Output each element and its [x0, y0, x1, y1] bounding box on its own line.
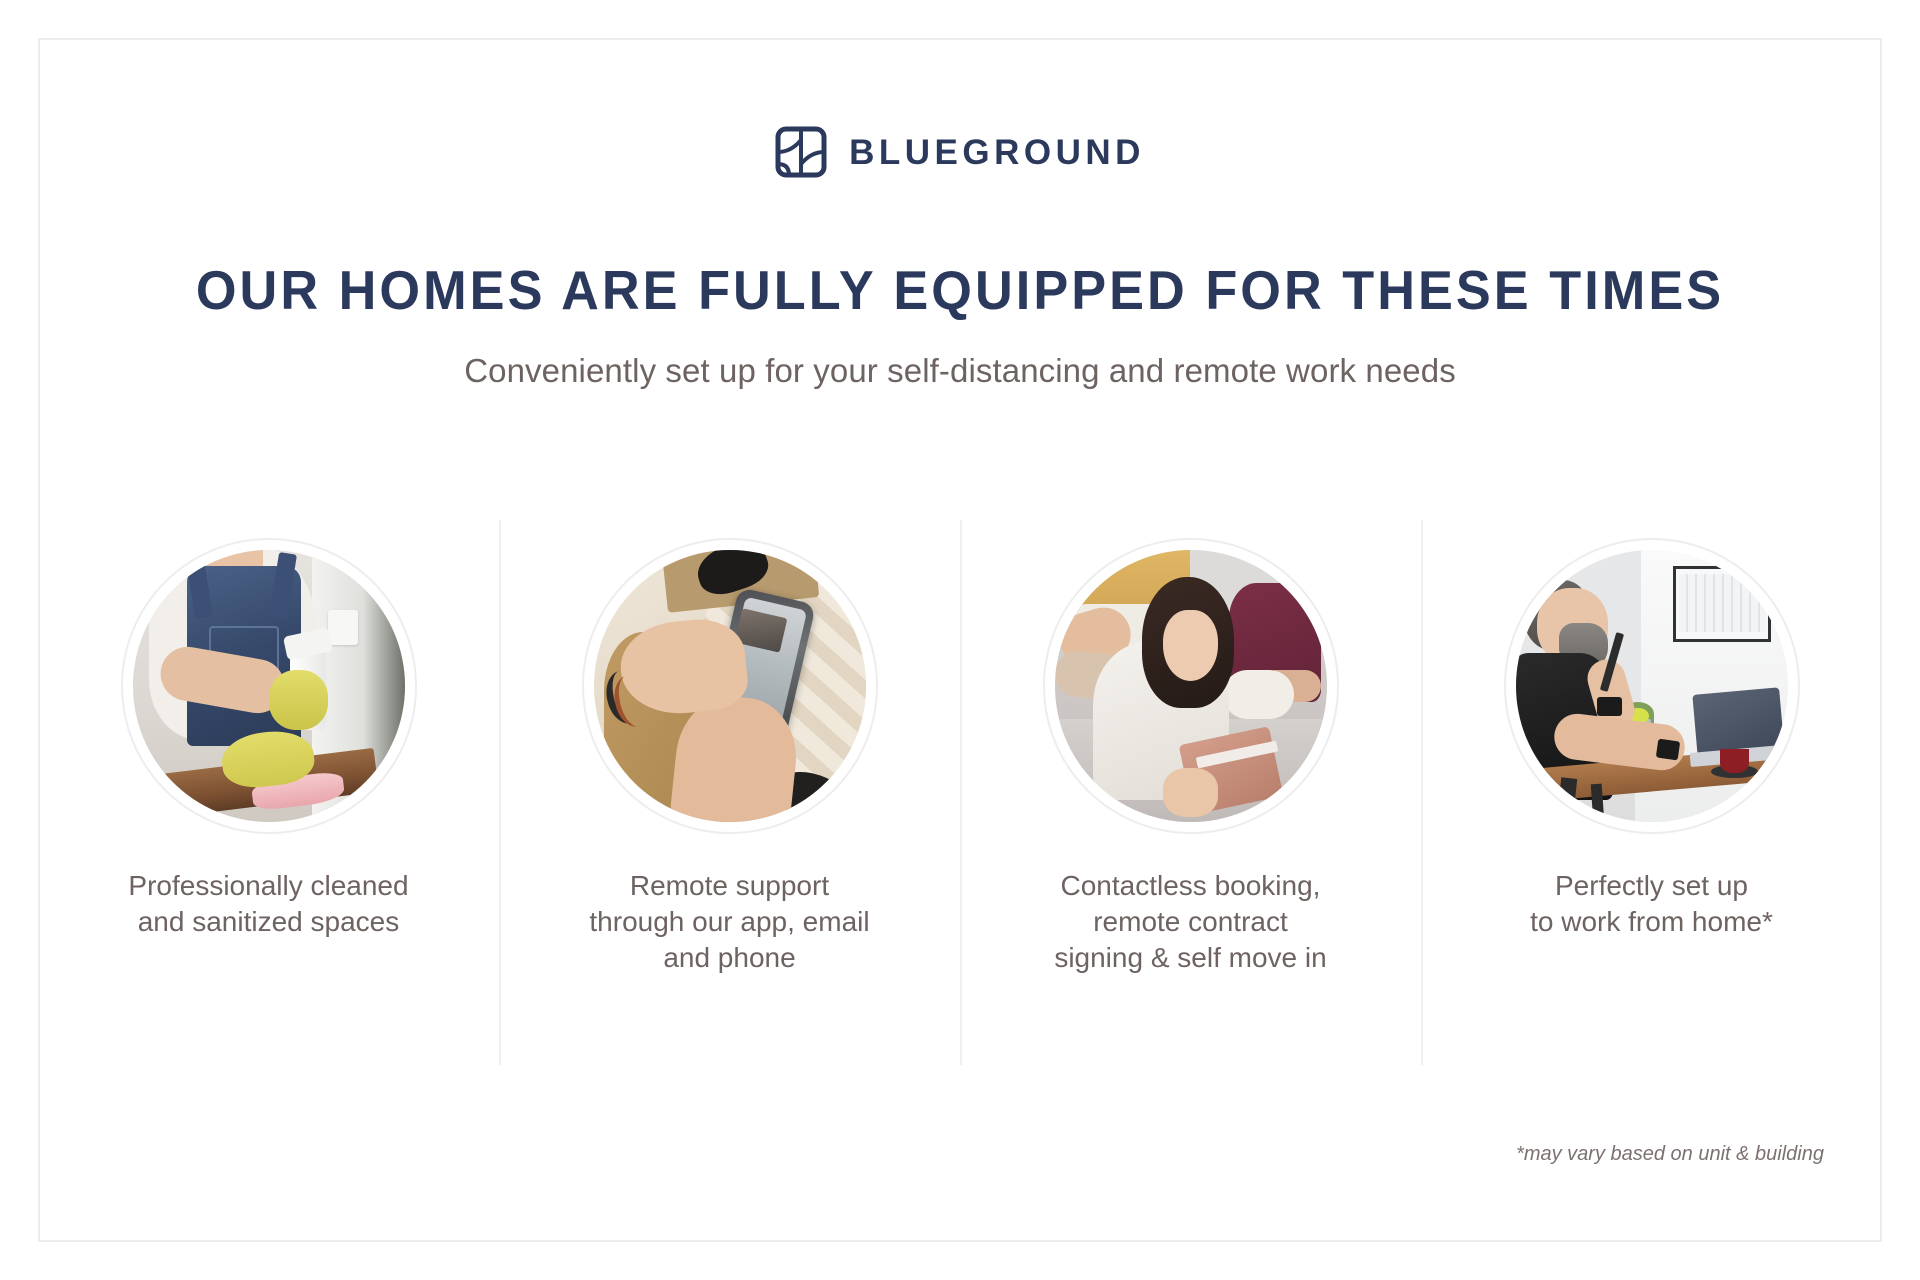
- caption-line-3: signing & self move in: [1054, 940, 1326, 976]
- brand-name: BLUEGROUND: [849, 135, 1145, 170]
- page-title: OUR HOMES ARE FULLY EQUIPPED FOR THESE T…: [48, 258, 1872, 322]
- feature-card-work-from-home: Perfectly set up to work from home*: [1421, 520, 1882, 1065]
- caption-line-3: and phone: [589, 940, 869, 976]
- feature-card-caption: Remote support through our app, email an…: [589, 868, 869, 975]
- photo-ring: [582, 538, 878, 834]
- feature-card-cleaning: Professionally cleaned and sanitized spa…: [38, 520, 499, 1065]
- caption-line-2: to work from home*: [1530, 904, 1773, 940]
- caption-line-1: Remote support: [589, 868, 869, 904]
- photo-ring: [1504, 538, 1800, 834]
- caption-line-1: Contactless booking,: [1054, 868, 1326, 904]
- feature-card-remote-support: Remote support through our app, email an…: [499, 520, 960, 1065]
- cleaner-photo: [133, 550, 405, 822]
- caption-line-1: Perfectly set up: [1530, 868, 1773, 904]
- page-subtitle: Conveniently set up for your self-distan…: [0, 352, 1920, 390]
- blueground-square-mark-icon: [775, 126, 827, 178]
- caption-line-2: remote contract: [1054, 904, 1326, 940]
- feature-card-caption: Perfectly set up to work from home*: [1530, 868, 1773, 940]
- photo-ring: [1043, 538, 1339, 834]
- tablet-on-bed-photo: [1055, 550, 1327, 822]
- feature-card-caption: Professionally cleaned and sanitized spa…: [128, 868, 408, 940]
- work-from-home-photo: [1516, 550, 1788, 822]
- phone-app-photo: [594, 550, 866, 822]
- poster-page: BLUEGROUND OUR HOMES ARE FULLY EQUIPPED …: [0, 0, 1920, 1280]
- feature-card-caption: Contactless booking, remote contract sig…: [1054, 868, 1326, 975]
- footnote-disclaimer: *may vary based on unit & building: [1516, 1143, 1824, 1166]
- feature-card-contactless-booking: Contactless booking, remote contract sig…: [960, 520, 1421, 1065]
- caption-line-1: Professionally cleaned: [128, 868, 408, 904]
- caption-line-2: and sanitized spaces: [128, 904, 408, 940]
- brand-lockup: BLUEGROUND: [0, 126, 1920, 178]
- feature-cards-row: Professionally cleaned and sanitized spa…: [38, 520, 1882, 1065]
- photo-ring: [121, 538, 417, 834]
- caption-line-2: through our app, email: [589, 904, 869, 940]
